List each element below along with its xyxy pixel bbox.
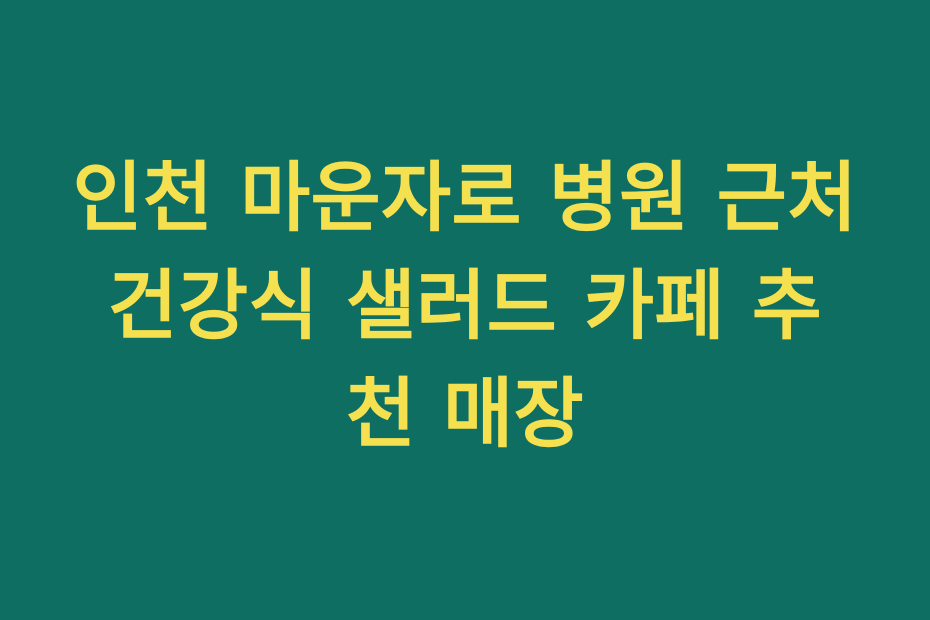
headline-line-3: 천 매장 xyxy=(50,360,880,468)
headline-line-2: 건강식 샐러드 카페 추 xyxy=(50,252,880,360)
headline-line-1: 인천 마운자로 병원 근처 xyxy=(50,144,880,252)
page-title: 인천 마운자로 병원 근처 건강식 샐러드 카페 추 천 매장 xyxy=(50,144,880,468)
thumbnail-canvas: 인천 마운자로 병원 근처 건강식 샐러드 카페 추 천 매장 xyxy=(0,0,930,620)
